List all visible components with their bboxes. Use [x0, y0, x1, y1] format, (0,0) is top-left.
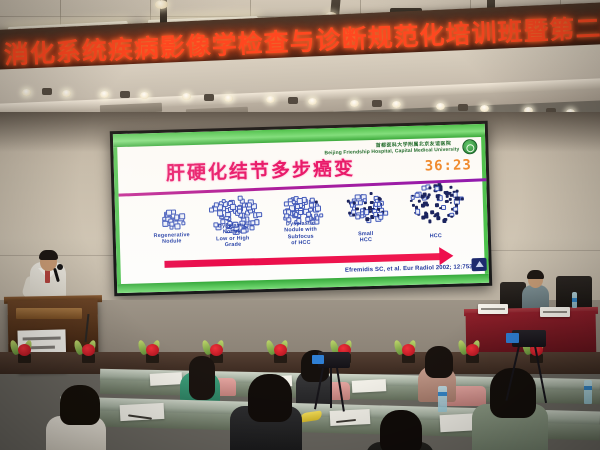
- water-bottle: [572, 292, 577, 308]
- nodule-cell: [214, 203, 219, 208]
- downlight: [100, 91, 109, 98]
- ceiling-sensor: [120, 91, 130, 98]
- nameplate: [478, 304, 508, 314]
- downlight: [480, 105, 489, 112]
- nodule-cell: [379, 215, 384, 220]
- water-bottle: [438, 386, 447, 412]
- red-rose: [274, 344, 287, 356]
- conference-hall-photo: 消化系统疾病影像学检查与诊断规范化培训班暨第二届友谊消化影像论坛 首都医科大学附…: [0, 0, 600, 450]
- ceiling-sensor: [288, 97, 298, 104]
- red-rose: [18, 344, 31, 356]
- slide-right-border: [481, 137, 489, 274]
- handout-paper: [330, 409, 371, 426]
- red-rose: [402, 344, 415, 356]
- malignant-cell: [426, 203, 429, 206]
- malignant-cell: [449, 186, 452, 189]
- malignant-cell: [442, 219, 446, 223]
- nodule-stage-label: SmallHCC: [332, 230, 400, 245]
- nodule-stage-label: RegenerativeNodule: [138, 232, 206, 247]
- downlight: [392, 101, 401, 108]
- malignant-cell: [455, 211, 458, 214]
- malignant-cell: [456, 189, 459, 192]
- slide-left-border: [113, 147, 121, 284]
- speaker-tie: [45, 270, 50, 283]
- nodule-cell: [319, 213, 324, 218]
- malignant-cell: [450, 193, 454, 197]
- presentation-slide: 首都医科大学附属北京友谊医院 Beijing Friendship Hospit…: [113, 124, 489, 293]
- downlight: [224, 95, 233, 102]
- ceiling-sensor: [458, 104, 468, 111]
- handout-paper: [150, 372, 183, 386]
- nodule-cell: [295, 204, 301, 210]
- camera-lcd-screen: [506, 333, 519, 343]
- nodule-cell: [225, 212, 230, 217]
- malignant-cell: [423, 203, 426, 206]
- nodule-stage-label: HCC: [402, 232, 470, 240]
- malignant-cell: [436, 194, 440, 198]
- malignant-cell: [368, 206, 372, 210]
- malignant-cell: [377, 214, 380, 217]
- malignant-cell: [428, 219, 432, 223]
- camera-lcd-screen: [312, 355, 324, 364]
- ceiling-sensor: [372, 100, 382, 107]
- malignant-cell: [436, 216, 440, 220]
- nodule-cell: [166, 210, 171, 215]
- nodule-cell: [209, 207, 214, 212]
- malignant-cell: [410, 200, 413, 203]
- nodule-cell: [292, 200, 297, 205]
- podium-plaque: [16, 308, 82, 319]
- handout-paper: [352, 379, 387, 393]
- tripod-leg: [330, 368, 332, 408]
- malignant-cell: [453, 190, 456, 193]
- red-rose: [466, 344, 479, 356]
- nodule-cell: [179, 213, 185, 219]
- nodule-cell: [283, 210, 288, 215]
- ceiling-sensor: [42, 88, 52, 95]
- nameplate: [540, 307, 570, 317]
- nodule-cell: [246, 202, 251, 207]
- slide-citation: Efremidis SC, et al. Eur Radiol 2002; 12…: [345, 264, 473, 274]
- nodule-cell: [310, 197, 315, 202]
- malignant-cell: [370, 201, 374, 205]
- malignant-cell: [450, 215, 453, 218]
- projection-screen: 首都医科大学附属北京友谊医院 Beijing Friendship Hospit…: [110, 121, 492, 296]
- downlight: [308, 98, 317, 105]
- downlight: [266, 96, 275, 103]
- malignant-cell: [418, 199, 421, 202]
- slide-title: 肝硬化结节多步癌变: [166, 153, 356, 185]
- nodule-cell: [221, 199, 226, 204]
- downlight: [22, 89, 31, 96]
- water-bottle: [584, 380, 592, 404]
- downlight: [140, 92, 149, 99]
- nodule-cell: [415, 209, 421, 215]
- nodule-cell: [422, 185, 427, 190]
- nodule-cell: [363, 198, 368, 203]
- malignant-cell: [427, 193, 431, 197]
- wall-seam: [490, 250, 600, 251]
- hospital-logo-icon: [462, 139, 477, 154]
- nodule-cluster: [342, 188, 388, 222]
- malignant-cell: [353, 201, 356, 204]
- speaker-hair: [39, 250, 58, 260]
- nodule-cell: [297, 198, 303, 204]
- nodule-cell: [237, 208, 242, 213]
- nodule-cell: [181, 221, 186, 226]
- nodule-cell: [217, 211, 223, 217]
- nodule-cell: [283, 202, 288, 207]
- presentation-timer: 36:23: [424, 157, 472, 174]
- nodule-cell: [237, 196, 242, 201]
- nodule-cell: [355, 214, 360, 219]
- red-rose: [146, 344, 159, 356]
- downlight: [350, 100, 359, 107]
- nodule-stage-label: DysplasticNodule withSubfocusof HCC: [266, 220, 335, 248]
- nodule-cell: [309, 203, 314, 208]
- malignant-cell: [421, 195, 425, 199]
- nodule-cell: [174, 224, 180, 230]
- nodule-cell: [414, 192, 419, 197]
- red-rose: [82, 344, 95, 356]
- nodule-cell: [298, 210, 303, 215]
- ceiling-sensor: [204, 94, 214, 101]
- downlight: [62, 90, 71, 97]
- nodule-stage-label: DysplasticNoduleLow or HighGrade: [198, 222, 267, 250]
- malignant-cell: [439, 188, 442, 191]
- malignant-cell: [377, 207, 380, 210]
- malignant-cell: [461, 198, 464, 201]
- wall-seam: [0, 255, 120, 256]
- downlight: [436, 103, 445, 110]
- nodule-cluster: [156, 206, 187, 229]
- malignant-cell: [365, 217, 368, 220]
- nodule-cell: [377, 202, 382, 207]
- nodule-cluster: [405, 179, 465, 224]
- malignant-cell: [444, 191, 448, 195]
- nodule-cell: [434, 186, 439, 191]
- nodule-cell: [256, 212, 261, 217]
- malignant-cell: [370, 192, 373, 195]
- nodule-cell: [315, 206, 321, 212]
- ceiling-downlight: [155, 0, 168, 9]
- malignant-cell: [428, 186, 431, 189]
- malignant-cell: [450, 201, 453, 204]
- malignant-cell: [378, 197, 381, 200]
- nodule-cell: [162, 216, 167, 221]
- nodule-cell: [355, 194, 361, 200]
- microphone-icon: [57, 264, 63, 270]
- downlight: [182, 93, 191, 100]
- malignant-cell: [426, 216, 429, 219]
- slide-corner-badge-icon: [471, 258, 486, 271]
- red-rose: [210, 344, 223, 356]
- seated-person-hair: [527, 270, 544, 279]
